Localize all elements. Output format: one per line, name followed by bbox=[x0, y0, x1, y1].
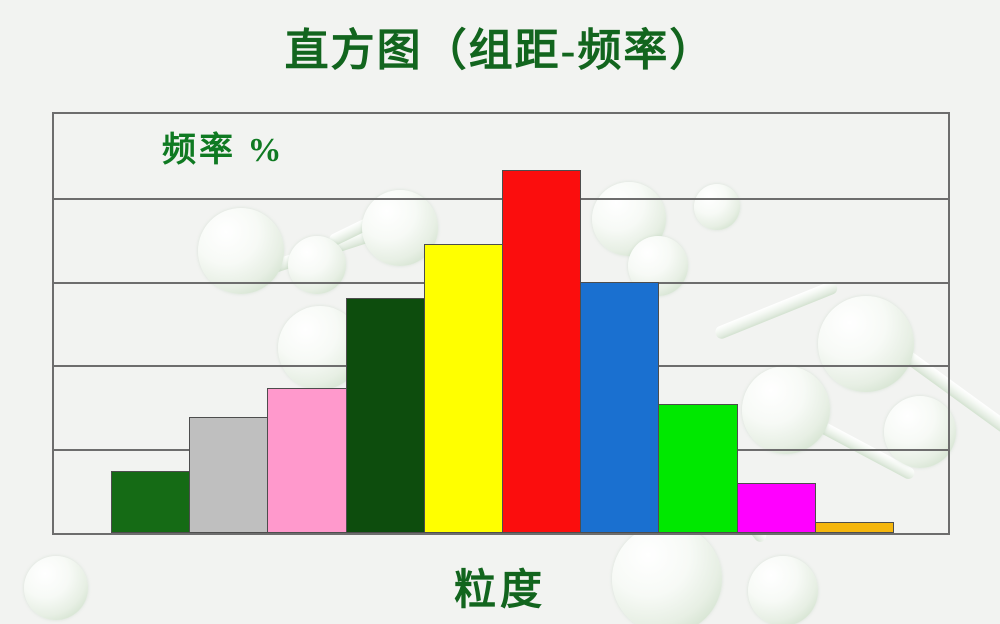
plot-area bbox=[52, 112, 950, 535]
bar-blue bbox=[580, 282, 659, 533]
bar-gray bbox=[189, 417, 268, 533]
bar-yellow bbox=[424, 244, 503, 533]
bar-bright-green bbox=[658, 404, 737, 533]
chart-title: 直方图（组距-频率） bbox=[0, 14, 1000, 78]
bar-magenta bbox=[737, 483, 816, 533]
y-axis-label: 频率 % bbox=[162, 122, 285, 171]
bar-red bbox=[502, 170, 581, 533]
bar-pink bbox=[267, 388, 346, 533]
bar-dark-green bbox=[111, 471, 190, 533]
bar-orange bbox=[815, 522, 894, 533]
bar-series bbox=[54, 114, 948, 533]
x-axis-label: 粒度 bbox=[0, 556, 1000, 617]
bar-darker-green bbox=[346, 298, 425, 533]
